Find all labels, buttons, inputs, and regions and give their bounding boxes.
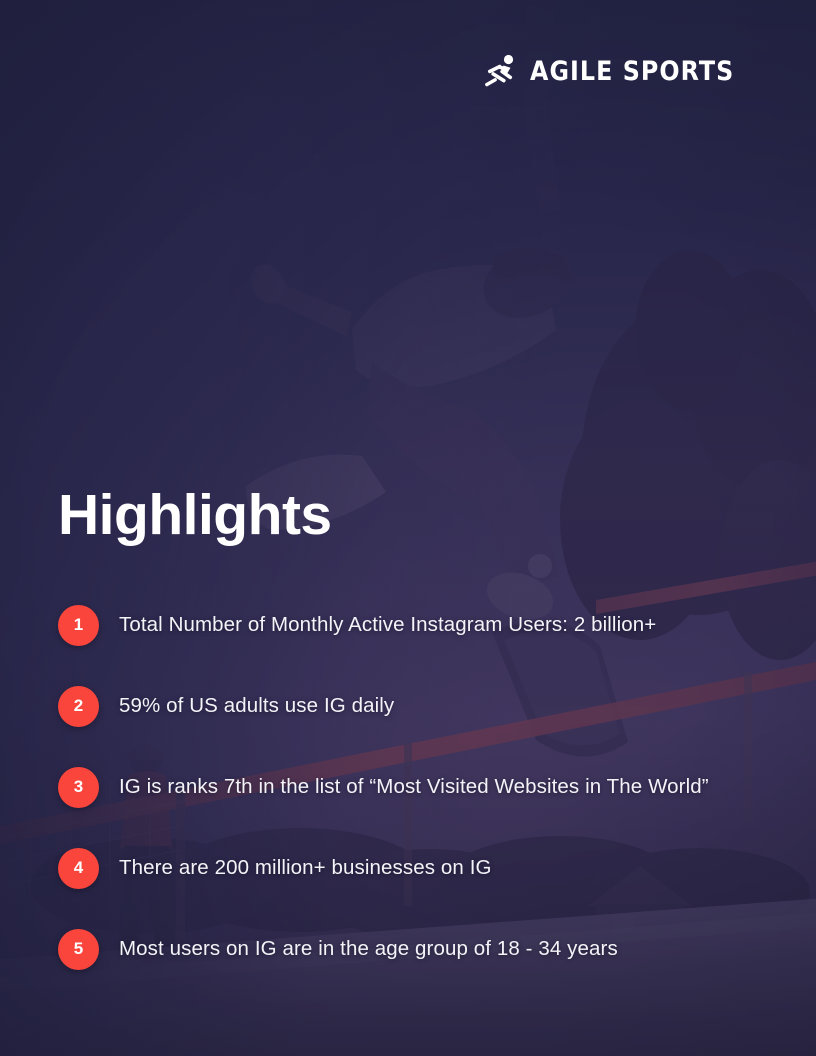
item-number-badge: 3 — [58, 767, 99, 808]
brand-logo: AGILE SPORTS — [482, 50, 762, 92]
item-text: 59% of US adults use IG daily — [119, 694, 394, 719]
list-item: 1 Total Number of Monthly Active Instagr… — [58, 604, 778, 646]
item-text: Total Number of Monthly Active Instagram… — [119, 613, 656, 638]
item-number-badge: 2 — [58, 686, 99, 727]
list-item: 4 There are 200 million+ businesses on I… — [58, 847, 778, 889]
running-person-icon — [482, 53, 518, 89]
item-number-badge: 1 — [58, 605, 99, 646]
poster-page: AGILE SPORTS Highlights 1 Total Number o… — [0, 0, 816, 1056]
item-number-badge: 4 — [58, 848, 99, 889]
page-title: Highlights — [58, 486, 332, 546]
item-text: Most users on IG are in the age group of… — [119, 937, 618, 962]
item-text: IG is ranks 7th in the list of “Most Vis… — [119, 775, 709, 800]
item-number-badge: 5 — [58, 929, 99, 970]
list-item: 3 IG is ranks 7th in the list of “Most V… — [58, 766, 778, 808]
list-item: 5 Most users on IG are in the age group … — [58, 928, 778, 970]
brand-name: AGILE SPORTS — [530, 58, 734, 85]
item-text: There are 200 million+ businesses on IG — [119, 856, 492, 881]
highlights-list: 1 Total Number of Monthly Active Instagr… — [58, 604, 778, 1009]
list-item: 2 59% of US adults use IG daily — [58, 685, 778, 727]
